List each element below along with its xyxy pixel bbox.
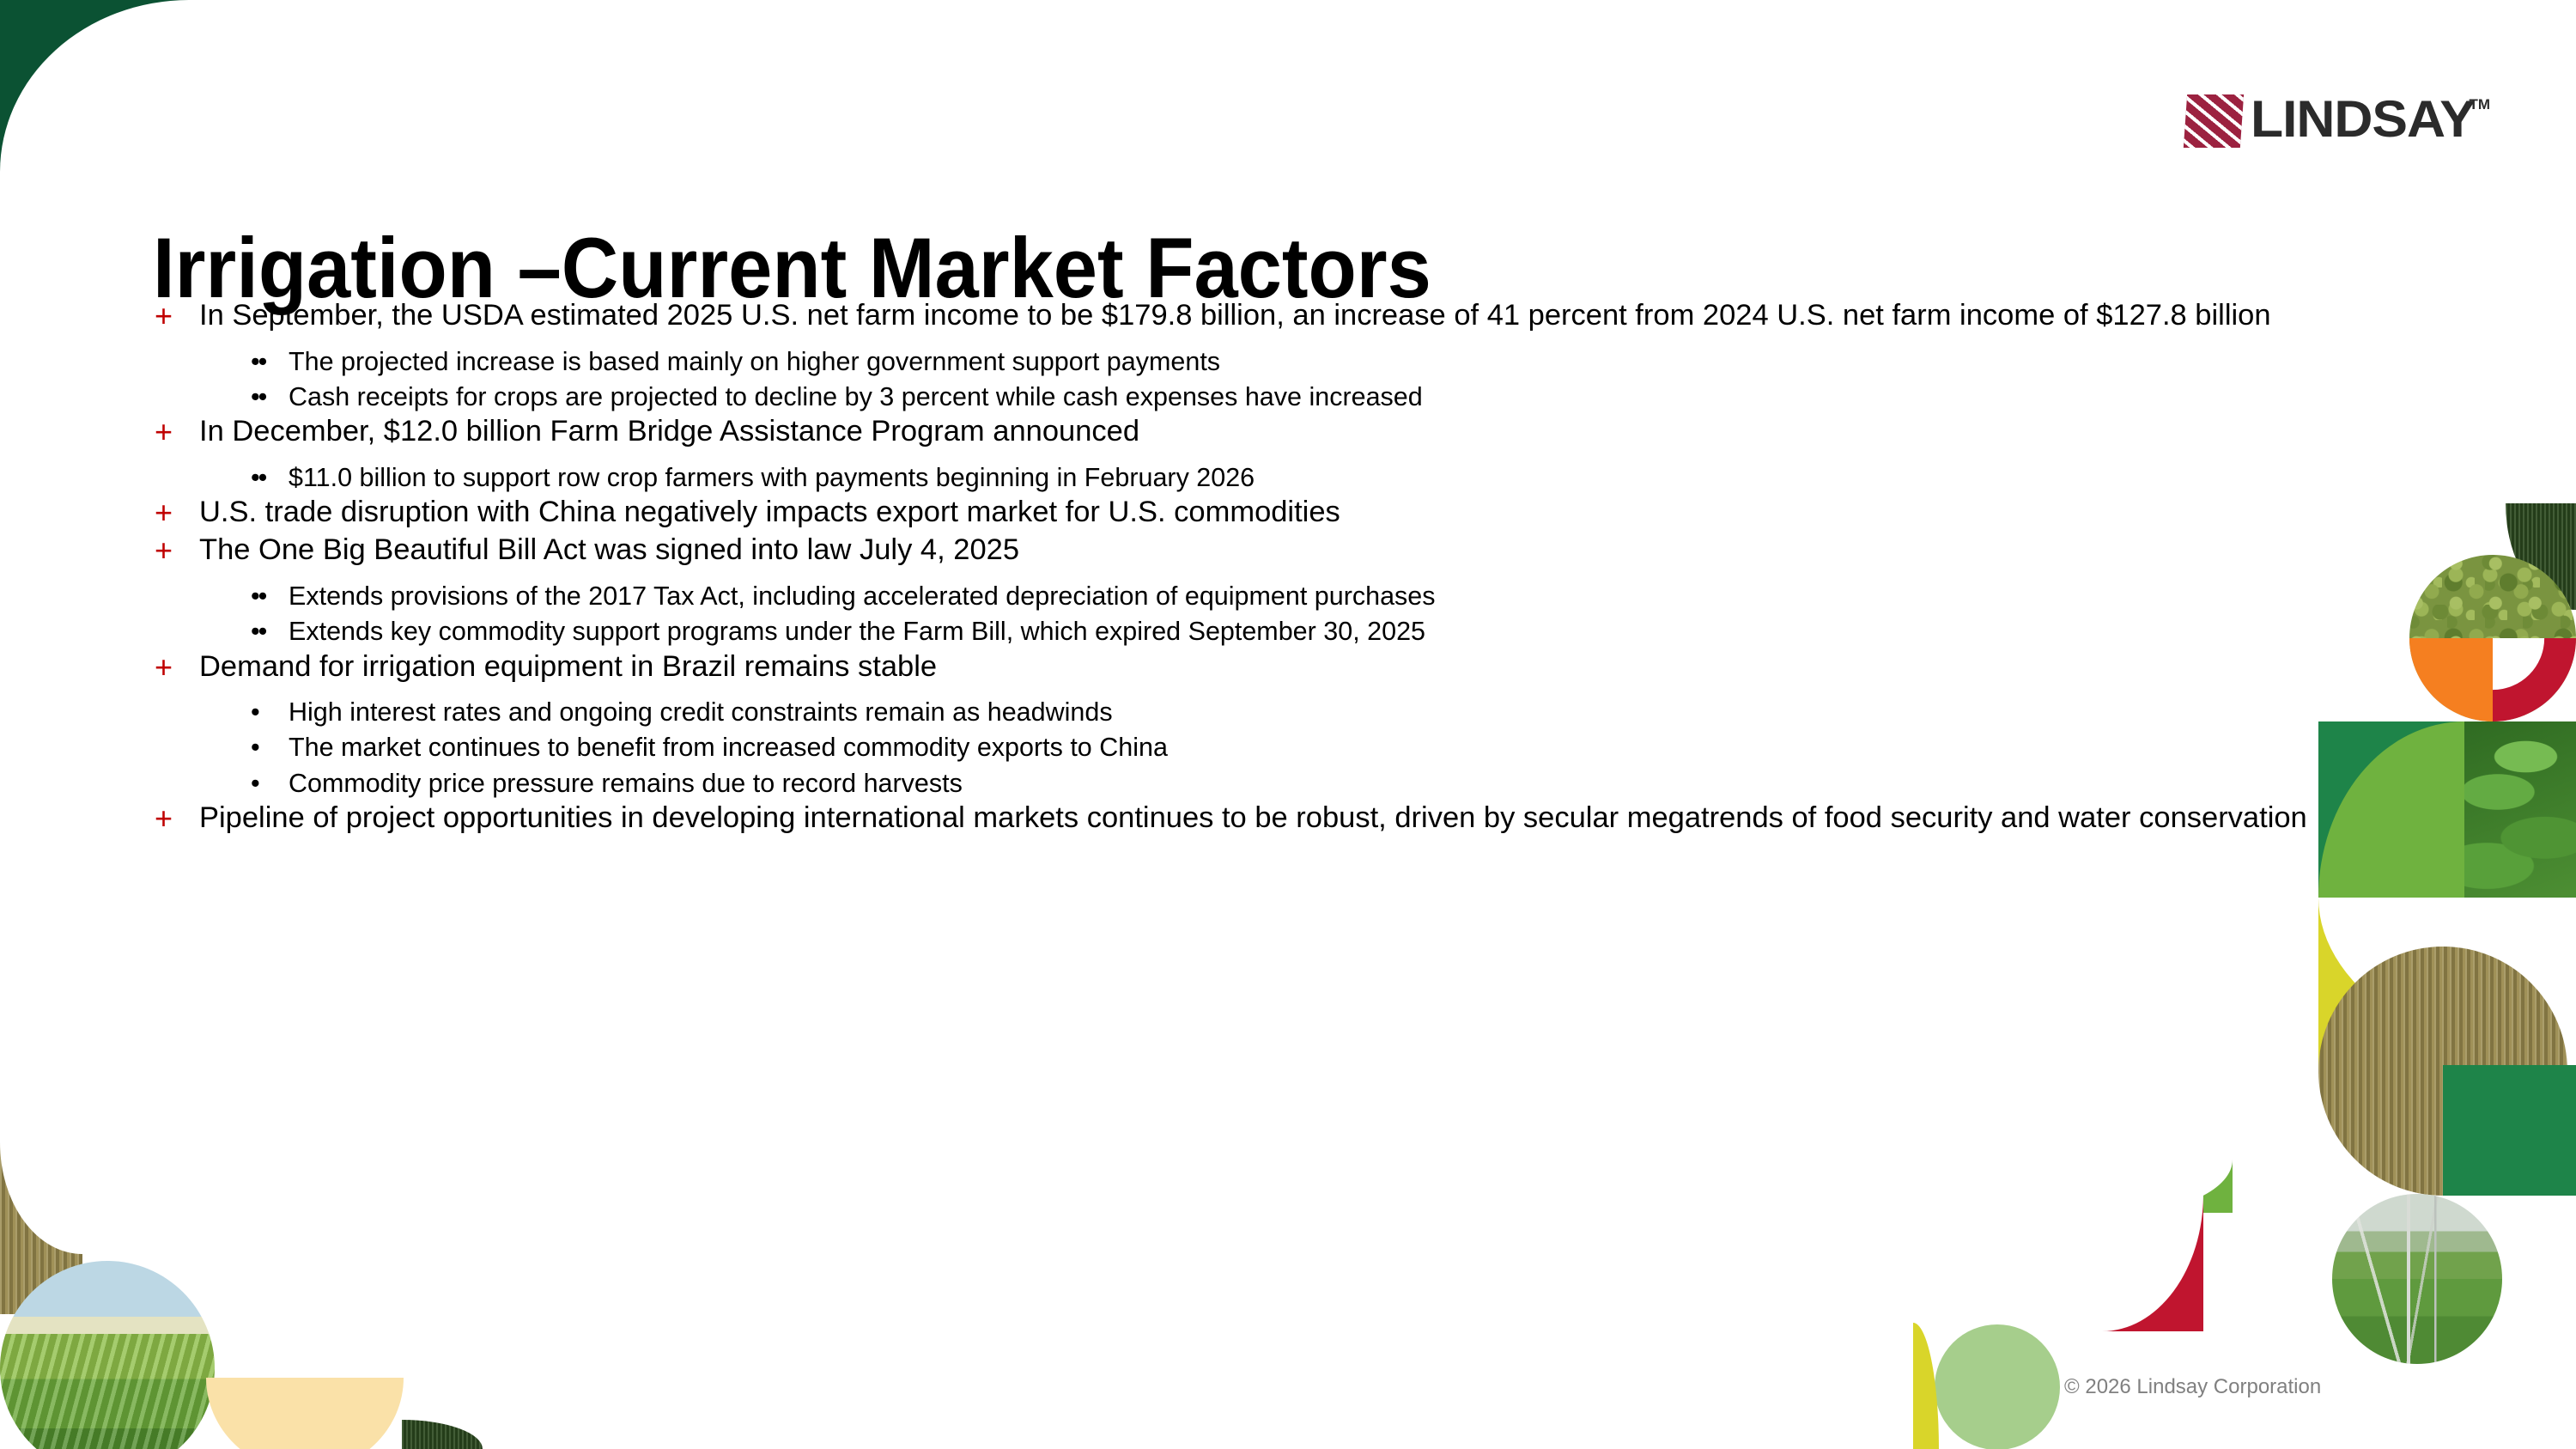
deco-white-halfcircle-under-green — [2318, 898, 2576, 1074]
lindsay-logo: LINDSAY TM — [2185, 94, 2490, 148]
plus-bullet-marker-icon: + — [155, 648, 199, 687]
sub-bullet-text: The projected increase is based mainly o… — [289, 346, 2353, 378]
deco-green-quarter-over-wood — [2443, 1065, 2576, 1196]
bullet-item: + Demand for irrigation equipment in Bra… — [155, 648, 2353, 687]
lindsay-wordmark: LINDSAY — [2251, 94, 2475, 145]
deco-cream-half-circle — [206, 1378, 404, 1449]
sub-bullet-item: •• $11.0 billion to support row crop far… — [251, 462, 2353, 494]
double-dot-bullet-marker-icon: •• — [251, 346, 289, 378]
sub-bullet-item: • High interest rates and ongoing credit… — [251, 697, 2353, 728]
plus-bullet-marker-icon: + — [155, 532, 199, 570]
dot-bullet-marker-icon: • — [251, 768, 289, 800]
bullet-item: + In September, the USDA estimated 2025 … — [155, 297, 2353, 336]
sub-bullet-item: •• Extends provisions of the 2017 Tax Ac… — [251, 581, 2353, 612]
deco-crimson-quarter — [2493, 638, 2576, 721]
sub-bullet-group: •• The projected increase is based mainl… — [155, 346, 2353, 413]
sub-bullet-text: Commodity price pressure remains due to … — [289, 768, 2353, 800]
deco-yellow-quarter — [2318, 898, 2391, 1074]
slide-canvas: LINDSAY TM Irrigation –Current Market Fa… — [0, 0, 2576, 1449]
bullet-text: In December, $12.0 billion Farm Bridge A… — [199, 413, 2353, 450]
sub-bullet-item: • Commodity price pressure remains due t… — [251, 768, 2353, 800]
top-left-green-corner-decoration — [0, 0, 189, 172]
deco-sage-circle — [1935, 1324, 2060, 1449]
double-dot-bullet-marker-icon: •• — [251, 462, 289, 494]
deco-broccoli-photo-circle — [2409, 555, 2576, 721]
plus-bullet-marker-icon: + — [155, 297, 199, 336]
sub-bullet-item: •• Cash receipts for crops are projected… — [251, 381, 2353, 413]
dot-bullet-marker-icon: • — [251, 732, 289, 764]
dot-bullet-marker-icon: • — [251, 697, 289, 728]
deco-dark-crop-tile-top-right — [2506, 503, 2576, 610]
plus-bullet-marker-icon: + — [155, 494, 199, 533]
deco-green-concave-wedge — [2121, 1160, 2233, 1213]
sub-bullet-item: •• The projected increase is based mainl… — [251, 346, 2353, 378]
bullet-item: + The One Big Beautiful Bill Act was sig… — [155, 532, 2353, 570]
sub-bullet-group: •• Extends provisions of the 2017 Tax Ac… — [155, 581, 2353, 648]
deco-soy-field-photo-circle — [0, 1261, 215, 1449]
double-dot-bullet-marker-icon: •• — [251, 616, 289, 648]
bullet-item: + In December, $12.0 billion Farm Bridge… — [155, 413, 2353, 452]
deco-orange-quarter — [2409, 638, 2493, 721]
bullet-item: + Pipeline of project opportunities in d… — [155, 800, 2353, 838]
sub-bullet-text: $11.0 billion to support row crop farmer… — [289, 462, 2353, 494]
bullet-block: + Pipeline of project opportunities in d… — [155, 800, 2353, 838]
deco-midgreen-block — [2318, 721, 2576, 898]
deco-wood-photo-circle — [2318, 947, 2567, 1196]
copyright-notice: © 2026 Lindsay Corporation — [2064, 1375, 2321, 1399]
deco-bottom-dark-crop-wedge — [402, 1420, 483, 1449]
deco-crimson-concave-wedge — [2102, 1194, 2203, 1331]
bullet-block: + In December, $12.0 billion Farm Bridge… — [155, 413, 2353, 494]
sub-bullet-text: Cash receipts for crops are projected to… — [289, 381, 2353, 413]
deco-pivot-irrigation-photo-circle — [2332, 1194, 2502, 1364]
double-dot-bullet-marker-icon: •• — [251, 581, 289, 612]
plus-bullet-marker-icon: + — [155, 413, 199, 452]
sub-bullet-text: Extends provisions of the 2017 Tax Act, … — [289, 581, 2353, 612]
bullet-block: + The One Big Beautiful Bill Act was sig… — [155, 532, 2353, 648]
sub-bullet-group: •• $11.0 billion to support row crop far… — [155, 462, 2353, 494]
sub-bullet-text: High interest rates and ongoing credit c… — [289, 697, 2353, 728]
bullet-list: + In September, the USDA estimated 2025 … — [155, 297, 2353, 837]
bullet-text: In September, the USDA estimated 2025 U.… — [199, 297, 2353, 334]
sub-bullet-text: The market continues to benefit from inc… — [289, 732, 2353, 764]
bullet-block: + Demand for irrigation equipment in Bra… — [155, 648, 2353, 800]
sub-bullet-item: •• Extends key commodity support program… — [251, 616, 2353, 648]
sub-bullet-text: Extends key commodity support programs u… — [289, 616, 2353, 648]
deco-bottom-left-wood-wedge — [0, 1142, 82, 1314]
plus-bullet-marker-icon: + — [155, 800, 199, 838]
bullet-block: + U.S. trade disruption with China negat… — [155, 494, 2353, 533]
sub-bullet-group: • High interest rates and ongoing credit… — [155, 697, 2353, 800]
deco-leaf-photo-tile — [2464, 721, 2576, 898]
bullet-block: + In September, the USDA estimated 2025 … — [155, 297, 2353, 413]
deco-yellow-sliver — [1913, 1323, 1939, 1449]
bullet-text: Pipeline of project opportunities in dev… — [199, 800, 2353, 837]
bullet-text: U.S. trade disruption with China negativ… — [199, 494, 2353, 531]
bullet-item: + U.S. trade disruption with China negat… — [155, 494, 2353, 533]
lindsay-logo-mark-icon — [2183, 94, 2243, 148]
double-dot-bullet-marker-icon: •• — [251, 381, 289, 413]
sub-bullet-item: • The market continues to benefit from i… — [251, 732, 2353, 764]
bullet-text: Demand for irrigation equipment in Brazi… — [199, 648, 2353, 685]
bullet-text: The One Big Beautiful Bill Act was signe… — [199, 532, 2353, 569]
